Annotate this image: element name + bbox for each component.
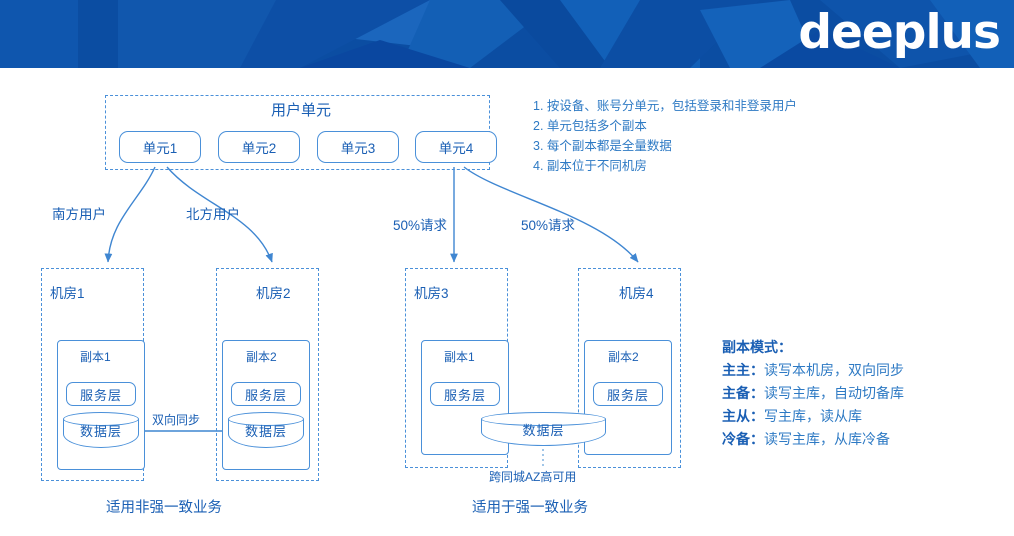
unit-box-4[interactable]: 单元4 [415, 131, 497, 163]
slide-canvas: deeplus 用户单元 单元1 单元2 单元3 [0, 0, 1014, 536]
left-group-caption: 适用非强一致业务 [106, 496, 222, 517]
right-group-caption: 适用于强一致业务 [472, 496, 588, 517]
legend-mode-name: 主从： [722, 408, 764, 424]
data-layer-label: 数据层 [63, 412, 139, 448]
legend-mode-name: 主备： [722, 385, 764, 401]
shared-data-layer: 数据层 [481, 412, 606, 446]
note-item-2: 2. 单元包括多个副本 [533, 116, 797, 136]
replica-label-right-2: 副本2 [608, 348, 639, 365]
unit-label: 单元2 [242, 137, 277, 157]
legend-mode-desc: 读写主库，自动切备库 [764, 385, 904, 401]
data-layer-left-1: 数据层 [63, 412, 139, 448]
deeplus-logo: deeplus [798, 6, 1000, 60]
legend-mode-name: 主主： [722, 362, 764, 378]
replica-label-right-1: 副本1 [444, 348, 475, 365]
legend-row-1: 主主：读写本机房，双向同步 [722, 359, 904, 382]
replica-label-left-1: 副本1 [80, 348, 111, 365]
legend-row-2: 主备：读写主库，自动切备库 [722, 382, 904, 405]
service-layer-label: 服务层 [444, 385, 486, 404]
room-label-2: 机房2 [256, 282, 291, 302]
note-item-3: 3. 每个副本都是全量数据 [533, 136, 797, 156]
replica-mode-legend: 副本模式： 主主：读写本机房，双向同步 主备：读写主库，自动切备库 主从：写主库… [722, 336, 904, 451]
flow-label-south-users: 南方用户 [52, 203, 106, 223]
service-layer-left-1: 服务层 [66, 382, 136, 406]
data-layer-label: 数据层 [228, 412, 304, 448]
replica-label-left-2: 副本2 [246, 348, 277, 365]
service-layer-label: 服务层 [245, 385, 287, 404]
legend-title: 副本模式： [722, 336, 904, 359]
data-layer-left-2: 数据层 [228, 412, 304, 448]
flow-label-request-left: 50%请求 [393, 214, 447, 234]
flow-label-request-right: 50%请求 [521, 214, 575, 234]
flow-label-north-users: 北方用户 [186, 203, 240, 223]
legend-row-3: 主从：写主库，读从库 [722, 405, 904, 428]
unit-box-3[interactable]: 单元3 [317, 131, 399, 163]
az-note: 跨同城AZ高可用 [489, 468, 576, 485]
room-label-3: 机房3 [414, 282, 449, 302]
room-label-1: 机房1 [50, 282, 85, 302]
unit-label: 单元3 [341, 137, 376, 157]
legend-mode-desc: 读写主库，从库冷备 [764, 431, 890, 447]
legend-mode-desc: 读写本机房，双向同步 [764, 362, 904, 378]
service-layer-label: 服务层 [80, 385, 122, 404]
notes-list: 1. 按设备、账号分单元，包括登录和非登录用户 2. 单元包括多个副本 3. 每… [533, 96, 797, 176]
legend-mode-desc: 写主库，读从库 [764, 408, 862, 424]
service-layer-left-2: 服务层 [231, 382, 301, 406]
data-layer-label: 数据层 [481, 412, 606, 446]
unit-box-1[interactable]: 单元1 [119, 131, 201, 163]
unit-label: 单元1 [143, 137, 178, 157]
service-layer-right-2: 服务层 [593, 382, 663, 406]
room-label-4: 机房4 [619, 282, 654, 302]
unit-label: 单元4 [439, 137, 474, 157]
note-item-1: 1. 按设备、账号分单元，包括登录和非登录用户 [533, 96, 797, 116]
sync-label: 双向同步 [152, 411, 200, 428]
user-unit-title: 用户单元 [271, 99, 331, 120]
legend-mode-name: 冷备： [722, 431, 764, 447]
header-banner: deeplus [0, 0, 1014, 68]
note-item-4: 4. 副本位于不同机房 [533, 156, 797, 176]
legend-row-4: 冷备：读写主库，从库冷备 [722, 428, 904, 451]
unit-box-2[interactable]: 单元2 [218, 131, 300, 163]
service-layer-right-1: 服务层 [430, 382, 500, 406]
service-layer-label: 服务层 [607, 385, 649, 404]
